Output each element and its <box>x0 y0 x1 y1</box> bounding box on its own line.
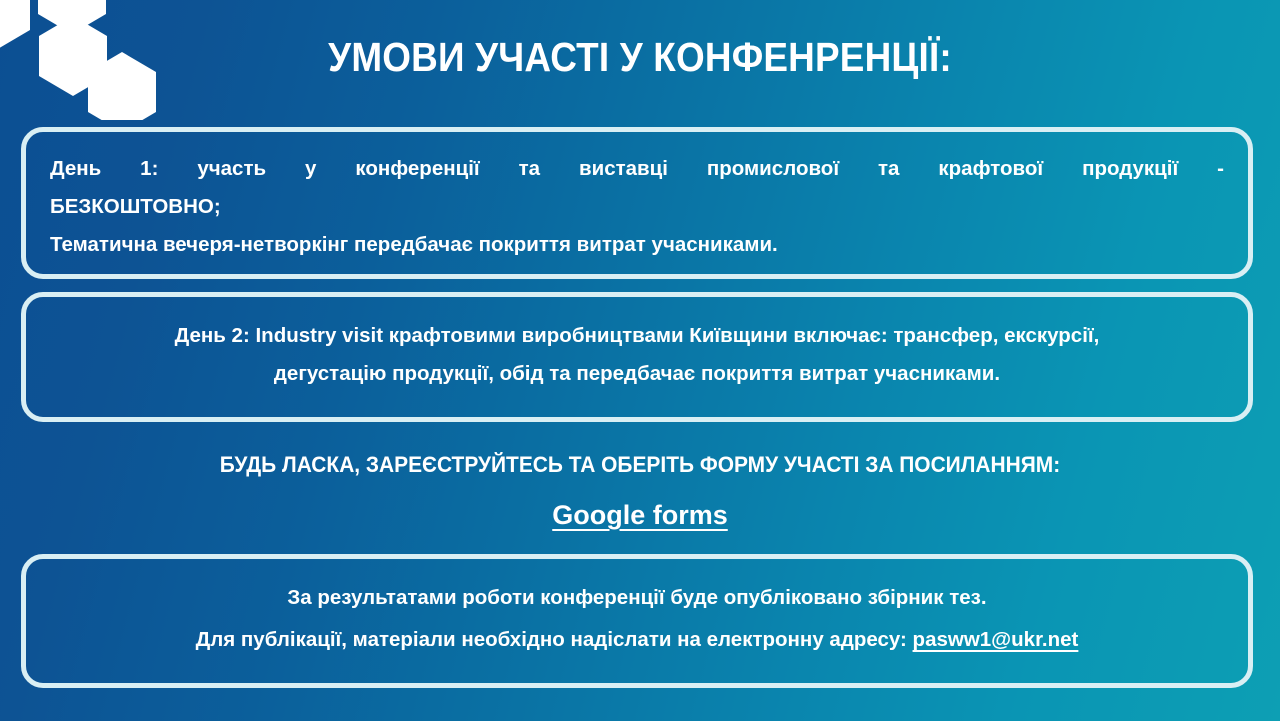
publication-info-box: За результатами роботи конференції буде … <box>21 554 1253 688</box>
day1-line-1: День 1: участь у конференції та виставці… <box>50 150 1224 188</box>
contact-email-link[interactable]: pasww1@ukr.net <box>913 628 1079 651</box>
day2-info-box: День 2: Industry visit крафтовими виробн… <box>21 292 1253 422</box>
publication-line-1: За результатами роботи конференції буде … <box>52 577 1222 619</box>
day2-line-2: дегустацію продукції, обід та передбачає… <box>52 355 1222 393</box>
publication-line-2-prefix: Для публікації, матеріали необхідно наді… <box>196 628 913 651</box>
day1-info-box: День 1: участь у конференції та виставці… <box>21 127 1253 279</box>
day1-line-3: Тематична вечеря-нетворкінг передбачає п… <box>50 226 1224 264</box>
publication-line-2: Для публікації, матеріали необхідно наді… <box>52 619 1222 661</box>
presentation-slide: УМОВИ УЧАСТІ У КОНФЕНРЕНЦІЇ: День 1: уча… <box>0 0 1280 721</box>
day1-line-2: БЕЗКОШТОВНО; <box>50 188 1224 226</box>
google-forms-link-container: Google forms <box>0 498 1280 532</box>
day2-line-1: День 2: Industry visit крафтовими виробн… <box>52 317 1222 355</box>
registration-cta-text: БУДЬ ЛАСКА, ЗАРЕЄСТРУЙТЕСЬ ТА ОБЕРІТЬ ФО… <box>45 450 1235 480</box>
google-forms-link[interactable]: Google forms <box>552 500 728 530</box>
page-title: УМОВИ УЧАСТІ У КОНФЕНРЕНЦІЇ: <box>64 31 1216 83</box>
